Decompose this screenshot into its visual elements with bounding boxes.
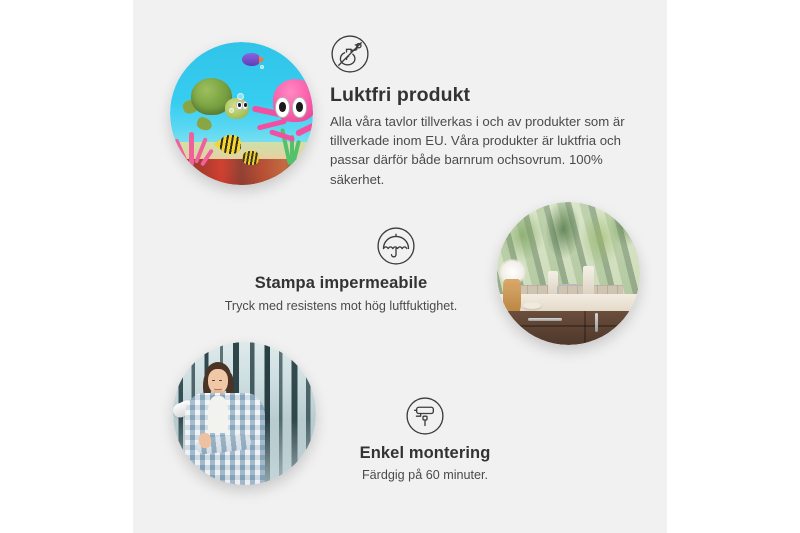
feature-title: Stampa impermeabile (200, 273, 492, 294)
bubble-icon (229, 108, 234, 113)
feature-easy-mounting: Enkel montering Färdgig på 60 minuter. (300, 396, 550, 484)
fish-yellow-striped (219, 135, 242, 154)
bottle (583, 266, 594, 296)
photo-bathroom-tropical (497, 202, 640, 345)
fish-yellow-small (242, 151, 259, 165)
feature-description: Alla våra tavlor tillverkas i och av pro… (330, 112, 626, 189)
umbrella-icon (376, 226, 416, 266)
octopus (253, 79, 313, 148)
feature-title: Enkel montering (300, 443, 550, 464)
product-feature-banner: Luktfri produkt Alla våra tavlor tillver… (0, 0, 800, 533)
paint-roller-icon (405, 396, 445, 436)
door-handle (595, 313, 598, 332)
underwater-illustration (170, 42, 313, 185)
feature-title: Luktfri produkt (330, 83, 626, 107)
fish-purple (242, 53, 261, 66)
bathroom-scene (497, 202, 640, 345)
coral (174, 124, 217, 167)
photo-kids-underwater (170, 42, 313, 185)
feature-odourless: Luktfri produkt Alla våra tavlor tillver… (330, 34, 626, 189)
person-decorator (182, 362, 271, 485)
photo-decorator-forest (173, 342, 316, 485)
drawer-handle (528, 318, 562, 321)
sea-turtle (187, 76, 250, 125)
feature-waterproof: Stampa impermeabile Tryck med resistens … (200, 226, 492, 315)
forest-wallpaper-scene (173, 342, 316, 485)
bubble-icon (260, 65, 264, 69)
vanity-cabinet (506, 311, 640, 345)
feature-description: Tryck med resistens mot hög luftfuktighe… (200, 298, 492, 315)
no-fragrance-icon (330, 34, 370, 74)
feature-description: Färdgig på 60 minuter. (300, 467, 550, 484)
